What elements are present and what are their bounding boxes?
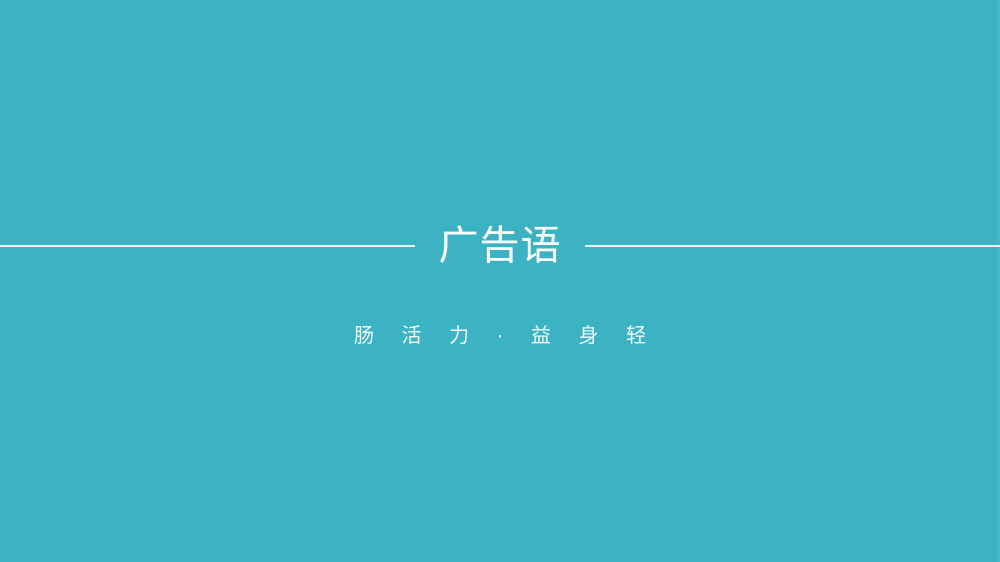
slide-subtitle: 肠 活 力 · 益 身 轻 — [0, 320, 1000, 352]
slide-title: 广告语 — [0, 218, 1000, 274]
slide-canvas: 广告语 肠 活 力 · 益 身 轻 — [0, 0, 1000, 562]
